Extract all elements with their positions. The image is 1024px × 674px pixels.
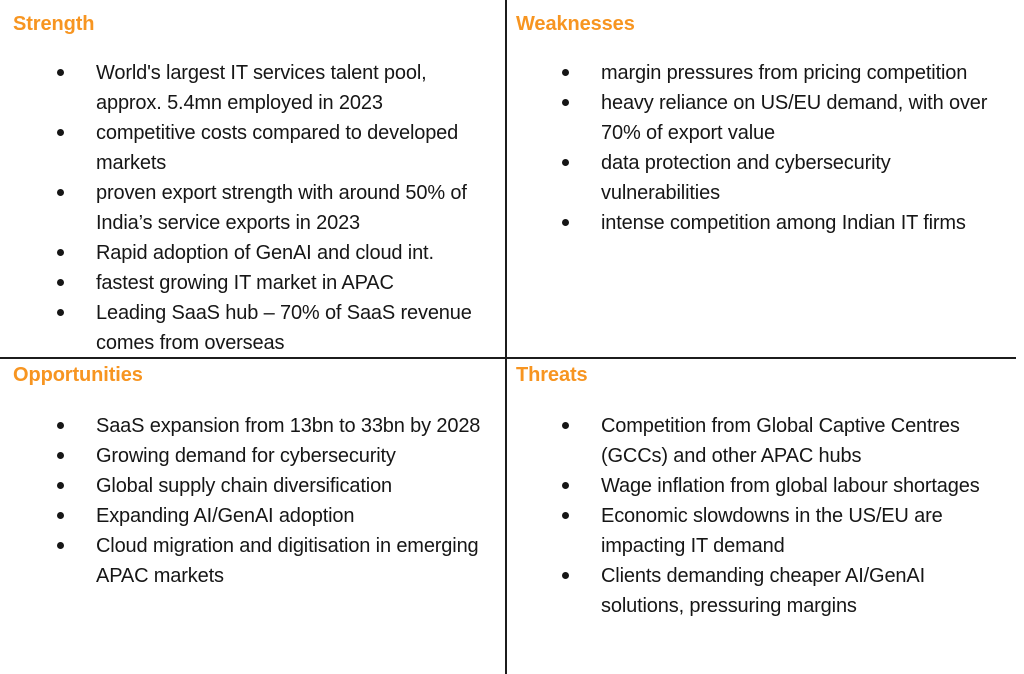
list-item-text: Wage inflation from global labour shorta… bbox=[601, 471, 1002, 501]
list-item: World's largest IT services talent pool,… bbox=[0, 58, 505, 118]
list-item: Leading SaaS hub – 70% of SaaS revenue c… bbox=[0, 298, 505, 358]
list-item-text: data protection and cybersecurity vulner… bbox=[601, 148, 1002, 208]
bullet-point-icon bbox=[57, 279, 64, 286]
list-item: Global supply chain diversification bbox=[0, 471, 505, 501]
list-item-text: World's largest IT services talent pool,… bbox=[96, 58, 487, 118]
list-item: data protection and cybersecurity vulner… bbox=[507, 148, 1024, 208]
quadrant-heading-weaknesses: Weaknesses bbox=[516, 12, 1024, 36]
quadrant-heading-threats: Threats bbox=[516, 363, 1024, 387]
list-item-text: Clients demanding cheaper AI/GenAI solut… bbox=[601, 561, 1002, 621]
bullet-point-icon bbox=[57, 512, 64, 519]
list-item: Cloud migration and digitisation in emer… bbox=[0, 531, 505, 591]
list-item: Clients demanding cheaper AI/GenAI solut… bbox=[507, 561, 1024, 621]
list-item: margin pressures from pricing competitio… bbox=[507, 58, 1024, 88]
swot-matrix: Strength World's largest IT services tal… bbox=[0, 0, 1024, 674]
bullet-point-icon bbox=[562, 572, 569, 579]
bullet-point-icon bbox=[57, 69, 64, 76]
list-item: proven export strength with around 50% o… bbox=[0, 178, 505, 238]
quadrant-opportunities: Opportunities SaaS expansion from 13bn t… bbox=[0, 359, 505, 674]
list-item-text: heavy reliance on US/EU demand, with ove… bbox=[601, 88, 1002, 148]
list-item: fastest growing IT market in APAC bbox=[0, 268, 505, 298]
bullet-point-icon bbox=[562, 219, 569, 226]
list-item: Expanding AI/GenAI adoption bbox=[0, 501, 505, 531]
quadrant-weaknesses: Weaknesses margin pressures from pricing… bbox=[507, 0, 1024, 357]
list-item-text: Growing demand for cybersecurity bbox=[96, 441, 487, 471]
list-item-text: Global supply chain diversification bbox=[96, 471, 487, 501]
list-item: Economic slowdowns in the US/EU are impa… bbox=[507, 501, 1024, 561]
list-item: SaaS expansion from 13bn to 33bn by 2028 bbox=[0, 411, 505, 441]
bullet-point-icon bbox=[57, 482, 64, 489]
list-item: heavy reliance on US/EU demand, with ove… bbox=[507, 88, 1024, 148]
list-item-text: competitive costs compared to developed … bbox=[96, 118, 487, 178]
quadrant-threats: Threats Competition from Global Captive … bbox=[507, 359, 1024, 674]
list-item-text: Rapid adoption of GenAI and cloud int. bbox=[96, 238, 487, 268]
list-item-text: Expanding AI/GenAI adoption bbox=[96, 501, 487, 531]
bullet-point-icon bbox=[57, 542, 64, 549]
bullet-point-icon bbox=[57, 129, 64, 136]
list-item-text: fastest growing IT market in APAC bbox=[96, 268, 487, 298]
list-item: competitive costs compared to developed … bbox=[0, 118, 505, 178]
bullet-point-icon bbox=[562, 99, 569, 106]
list-item-text: Competition from Global Captive Centres … bbox=[601, 411, 1002, 471]
list-item-text: SaaS expansion from 13bn to 33bn by 2028 bbox=[96, 411, 487, 441]
bullet-list-opportunities: SaaS expansion from 13bn to 33bn by 2028… bbox=[0, 411, 505, 591]
list-item-text: Economic slowdowns in the US/EU are impa… bbox=[601, 501, 1002, 561]
bullet-point-icon bbox=[562, 482, 569, 489]
bullet-point-icon bbox=[562, 159, 569, 166]
bullet-point-icon bbox=[57, 309, 64, 316]
bullet-point-icon bbox=[57, 189, 64, 196]
quadrant-strength: Strength World's largest IT services tal… bbox=[0, 0, 505, 357]
bullet-list-weaknesses: margin pressures from pricing competitio… bbox=[507, 58, 1024, 238]
list-item: Competition from Global Captive Centres … bbox=[507, 411, 1024, 471]
quadrant-heading-strength: Strength bbox=[13, 12, 505, 36]
list-item: Wage inflation from global labour shorta… bbox=[507, 471, 1024, 501]
bullet-point-icon bbox=[57, 422, 64, 429]
bullet-list-threats: Competition from Global Captive Centres … bbox=[507, 411, 1024, 621]
list-item: Growing demand for cybersecurity bbox=[0, 441, 505, 471]
list-item-text: Cloud migration and digitisation in emer… bbox=[96, 531, 487, 591]
bullet-point-icon bbox=[562, 422, 569, 429]
quadrant-heading-opportunities: Opportunities bbox=[13, 363, 505, 387]
bullet-point-icon bbox=[562, 69, 569, 76]
list-item-text: margin pressures from pricing competitio… bbox=[601, 58, 1002, 88]
bullet-list-strength: World's largest IT services talent pool,… bbox=[0, 58, 505, 358]
list-item-text: intense competition among Indian IT firm… bbox=[601, 208, 1002, 238]
bullet-point-icon bbox=[57, 452, 64, 459]
bullet-point-icon bbox=[57, 249, 64, 256]
list-item-text: Leading SaaS hub – 70% of SaaS revenue c… bbox=[96, 298, 487, 358]
list-item: intense competition among Indian IT firm… bbox=[507, 208, 1024, 238]
list-item: Rapid adoption of GenAI and cloud int. bbox=[0, 238, 505, 268]
bullet-point-icon bbox=[562, 512, 569, 519]
list-item-text: proven export strength with around 50% o… bbox=[96, 178, 487, 238]
